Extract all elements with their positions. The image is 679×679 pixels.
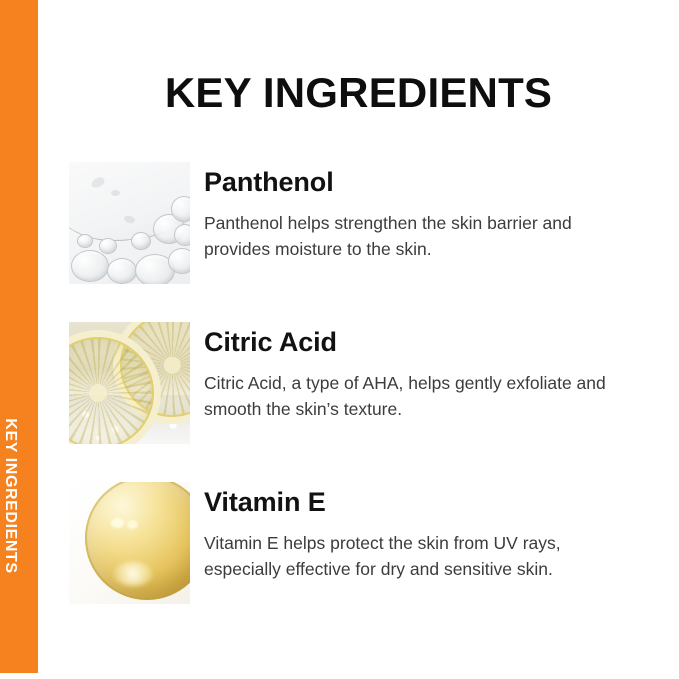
gel-bubble-shape — [77, 234, 93, 248]
gel-bubble-shape — [71, 250, 109, 282]
gel-bubble-shape — [107, 258, 137, 284]
lemon-core-shape — [164, 357, 181, 374]
gel-bubble-shape — [168, 248, 190, 274]
gel-bubble-shape — [99, 238, 117, 254]
panthenol-gel-photo — [69, 162, 190, 284]
gel-bubble-shape — [131, 232, 151, 250]
ingredient-list: Panthenol Panthenol helps strengthen the… — [69, 162, 679, 642]
ingredient-name: Panthenol — [204, 168, 608, 198]
ingredient-row-vitamin-e: Vitamin E Vitamin E helps protect the sk… — [69, 482, 679, 604]
page-title: KEY INGREDIENTS — [38, 72, 679, 114]
ingredient-text-block: Citric Acid Citric Acid, a type of AHA, … — [204, 322, 608, 422]
ingredient-name: Citric Acid — [204, 328, 608, 358]
ingredient-text-block: Vitamin E Vitamin E helps protect the sk… — [204, 482, 608, 582]
key-ingredients-side-rail: KEY INGREDIENTS — [0, 0, 38, 673]
vitamin-e-oil-photo — [69, 482, 190, 604]
ingredient-description: Panthenol helps strengthen the skin barr… — [204, 211, 608, 263]
ingredient-description: Vitamin E helps protect the skin from UV… — [204, 531, 608, 583]
side-rail-label: KEY INGREDIENTS — [1, 418, 19, 573]
gel-bubble-shape — [171, 196, 190, 222]
ingredient-name: Vitamin E — [204, 488, 608, 518]
oil-highlight-shape — [111, 518, 124, 528]
oil-highlight-shape — [127, 520, 138, 529]
ingredient-row-citric-acid: Citric Acid Citric Acid, a type of AHA, … — [69, 322, 679, 444]
gel-bubble-shape — [174, 224, 190, 246]
ingredient-description: Citric Acid, a type of AHA, helps gently… — [204, 371, 608, 423]
citric-acid-lemon-photo — [69, 322, 190, 444]
content-area: KEY INGREDIENTS Panthenol — [38, 0, 679, 679]
gel-droplet-shape — [111, 190, 120, 196]
lemon-core-shape — [89, 384, 107, 402]
ingredient-row-panthenol: Panthenol Panthenol helps strengthen the… — [69, 162, 679, 284]
oil-highlight-shape — [113, 562, 153, 586]
ingredient-text-block: Panthenol Panthenol helps strengthen the… — [204, 162, 608, 262]
